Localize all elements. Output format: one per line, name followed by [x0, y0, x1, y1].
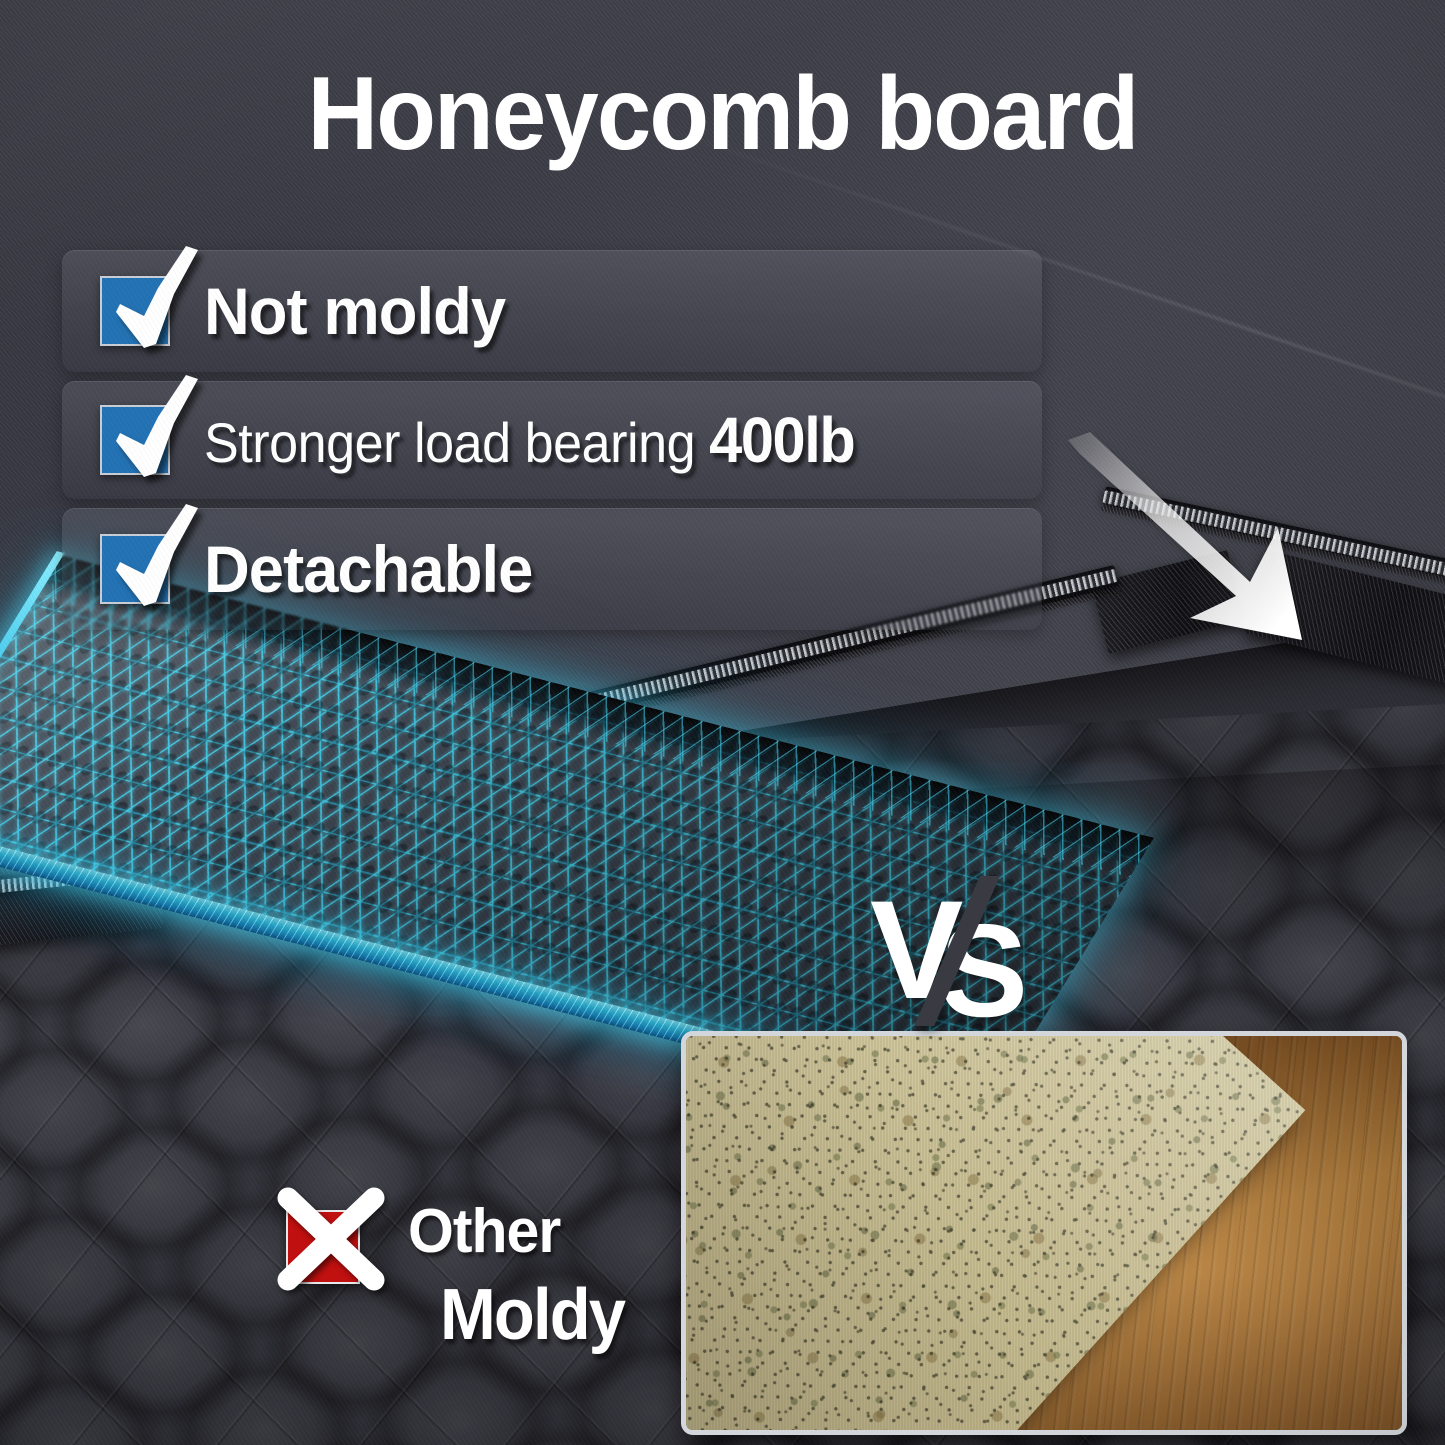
cross-box: [286, 1210, 360, 1284]
feature-row-detachable: Detachable: [62, 508, 1042, 630]
feature-label-detachable: Detachable: [204, 531, 532, 607]
moldy-board-photo: [681, 1031, 1407, 1435]
checkmark-icon: [100, 373, 208, 483]
page-title: Honeycomb board: [43, 62, 1401, 166]
feature-highlight-weight: 400lb: [709, 404, 854, 476]
feature-label-load-bearing: Stronger load bearing 400lb: [204, 403, 854, 477]
down-right-arrow-icon: [1068, 432, 1368, 662]
vs-badge: V S: [862, 876, 1052, 1026]
other-label: Other: [408, 1196, 560, 1267]
checkbox-load-bearing: [100, 405, 170, 475]
checkmark-icon: [100, 244, 208, 354]
checkmark-icon: [100, 502, 208, 612]
feature-row-not-moldy: Not moldy: [62, 250, 1042, 372]
feature-label-text: Stronger load bearing: [204, 411, 709, 474]
feature-label-not-moldy: Not moldy: [204, 273, 505, 349]
checkbox-not-moldy: [100, 276, 170, 346]
product-infographic: Honeycomb board Not moldy Stronger load …: [0, 0, 1445, 1445]
feature-row-load-bearing: Stronger load bearing 400lb: [62, 381, 1042, 499]
checkbox-detachable: [100, 534, 170, 604]
cross-x-icon: [270, 1184, 398, 1302]
feature-list: Not moldy Stronger load bearing 400lb De…: [62, 250, 1042, 630]
moldy-label: Moldy: [440, 1274, 624, 1356]
